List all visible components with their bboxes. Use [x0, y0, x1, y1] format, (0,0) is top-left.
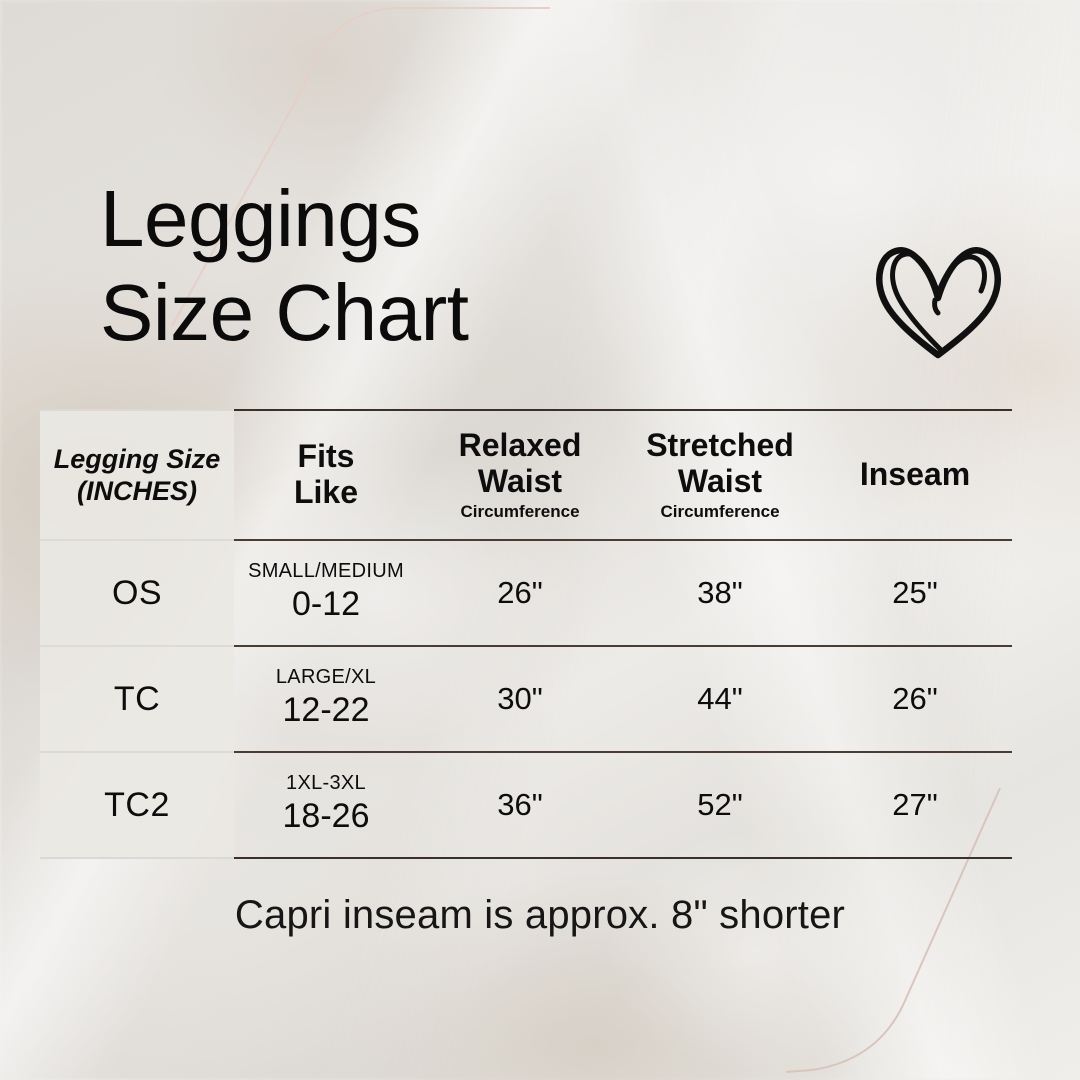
table-header-row: Legging Size (INCHES) Fits Like Relaxed … [40, 410, 1012, 540]
cell-fits-like: 1XL-3XL 18-26 [234, 752, 418, 858]
table-row: TC2 1XL-3XL 18-26 36" 52" 27" [40, 752, 1012, 858]
heart-doodle-icon [868, 228, 1010, 360]
cell-size: TC [40, 646, 234, 752]
column-header-legging-size: Legging Size (INCHES) [40, 410, 234, 540]
column-header-relaxed-waist: Relaxed Waist Circumference [418, 410, 622, 540]
footer-note: Capri inseam is approx. 8" shorter [0, 893, 1080, 938]
column-header-legging-size-label: Legging Size (INCHES) [40, 443, 234, 508]
size-chart-table-wrapper: Legging Size (INCHES) Fits Like Relaxed … [40, 409, 1012, 859]
cell-fits-like: SMALL/MEDIUM 0-12 [234, 540, 418, 646]
column-header-inseam: Inseam [818, 410, 1012, 540]
column-header-fits-like: Fits Like [234, 410, 418, 540]
cell-fits-like: LARGE/XL 12-22 [234, 646, 418, 752]
size-chart-poster: Leggings Size Chart Legging Size (INCHES… [0, 0, 1080, 1080]
column-header-stretched-waist: Stretched Waist Circumference [622, 410, 818, 540]
column-header-inseam-label: Inseam [818, 457, 1012, 493]
column-header-relaxed-waist-sublabel: Circumference [418, 502, 622, 522]
column-header-relaxed-waist-label: Relaxed Waist [418, 428, 622, 500]
cell-fits-like-numbers: 12-22 [234, 689, 418, 732]
cell-stretched-waist: 44" [622, 646, 818, 752]
cell-relaxed-waist: 26" [418, 540, 622, 646]
page-title: Leggings Size Chart [100, 172, 468, 361]
cell-relaxed-waist: 30" [418, 646, 622, 752]
cell-fits-like-numbers: 0-12 [234, 583, 418, 626]
cell-relaxed-waist: 36" [418, 752, 622, 858]
cell-fits-like-numbers: 18-26 [234, 795, 418, 838]
cell-fits-like-range: SMALL/MEDIUM [234, 560, 418, 582]
cell-size: OS [40, 540, 234, 646]
table-body: OS SMALL/MEDIUM 0-12 26" 38" 25" TC LARG… [40, 540, 1012, 858]
column-header-stretched-waist-sublabel: Circumference [622, 502, 818, 522]
cell-fits-like-range: 1XL-3XL [234, 772, 418, 794]
cell-stretched-waist: 52" [622, 752, 818, 858]
cell-inseam: 26" [818, 646, 1012, 752]
table-row: TC LARGE/XL 12-22 30" 44" 26" [40, 646, 1012, 752]
cell-inseam: 25" [818, 540, 1012, 646]
cell-inseam: 27" [818, 752, 1012, 858]
cell-stretched-waist: 38" [622, 540, 818, 646]
cell-fits-like-range: LARGE/XL [234, 666, 418, 688]
column-header-fits-like-label: Fits Like [234, 439, 418, 511]
cell-size: TC2 [40, 752, 234, 858]
size-chart-table: Legging Size (INCHES) Fits Like Relaxed … [40, 409, 1012, 859]
column-header-stretched-waist-label: Stretched Waist [622, 428, 818, 500]
table-row: OS SMALL/MEDIUM 0-12 26" 38" 25" [40, 540, 1012, 646]
table-header: Legging Size (INCHES) Fits Like Relaxed … [40, 410, 1012, 540]
